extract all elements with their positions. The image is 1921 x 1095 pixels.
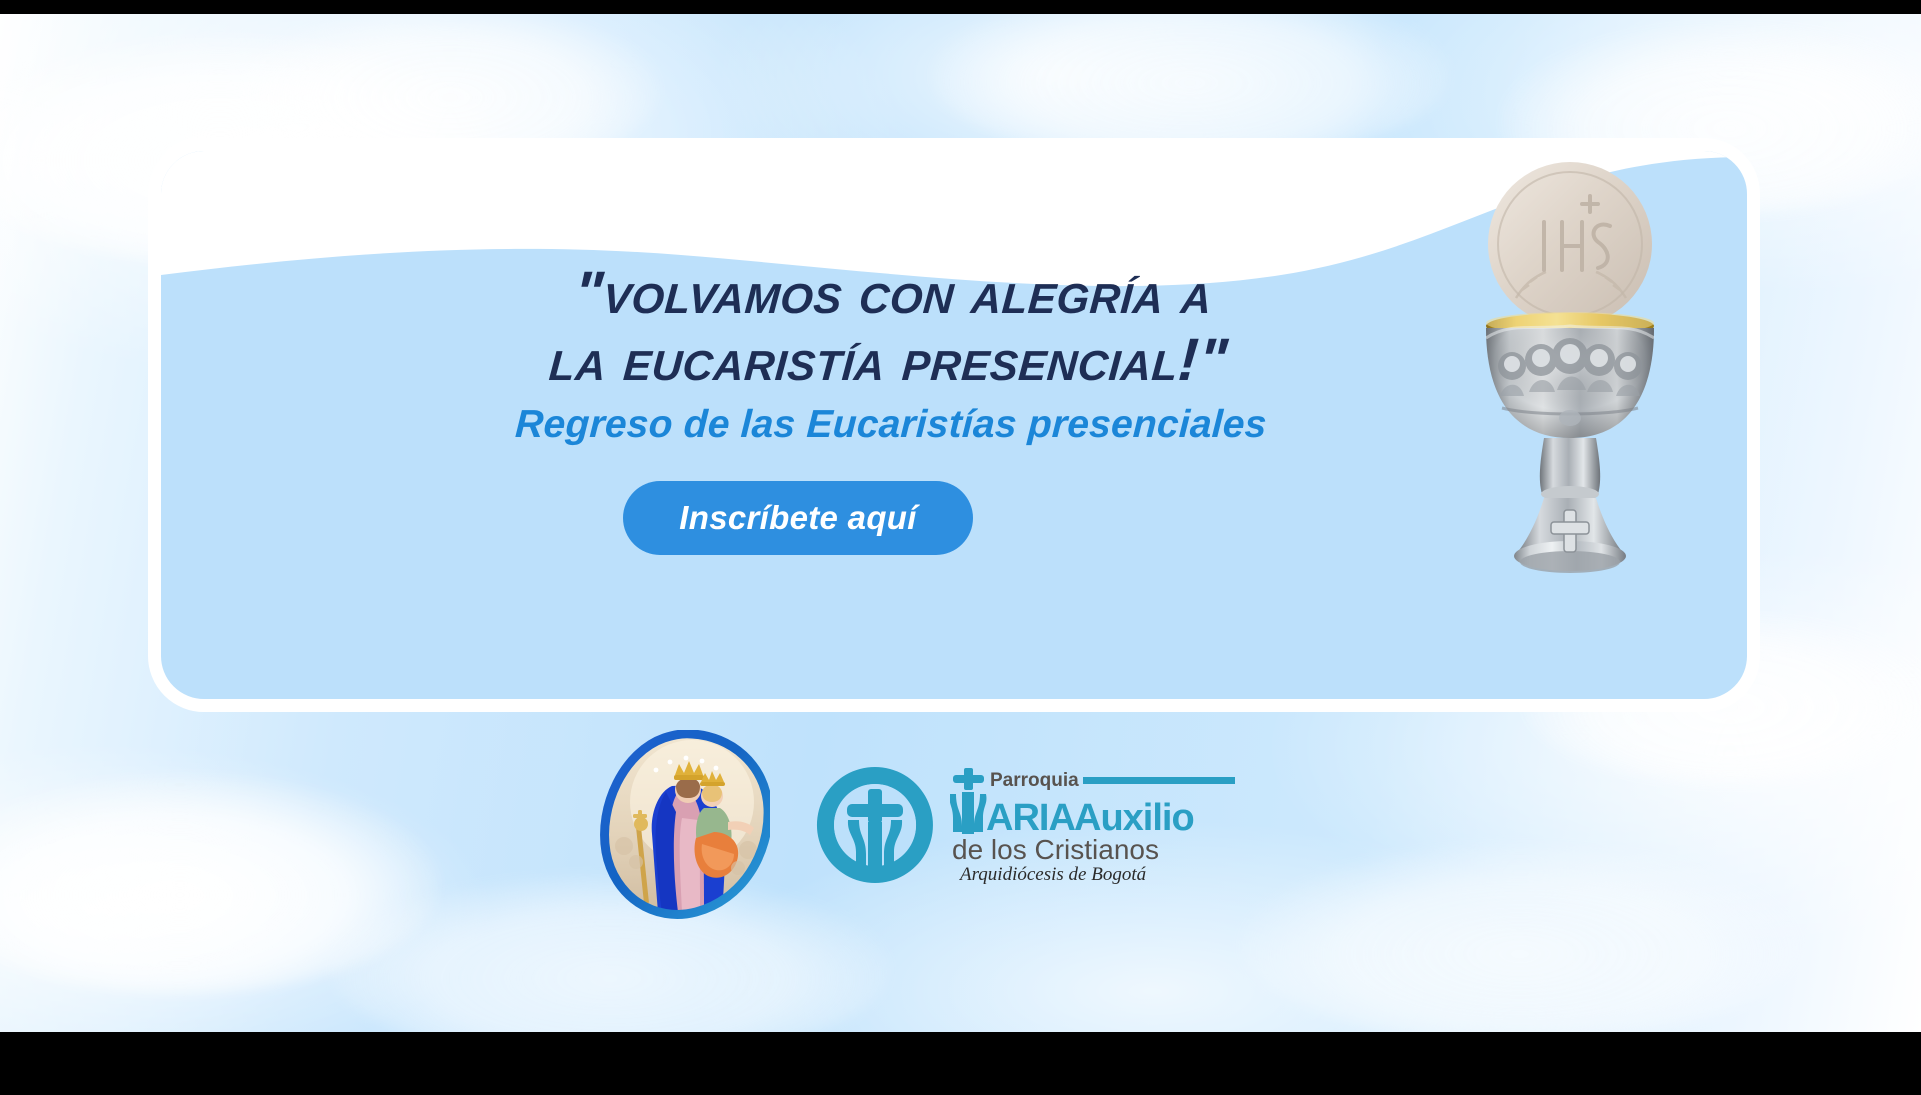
communion-host (1488, 162, 1652, 326)
page-subtitle: Regreso de las Eucaristías presenciales (360, 403, 1422, 447)
chalice-bowl (1486, 326, 1654, 438)
wordmark-maria: ARIA (986, 797, 1075, 839)
wordmark-arquidiocesis: Arquidiócesis de Bogotá (958, 864, 1147, 884)
banner-stage: "Volvamos con alegría a la Eucaristía Pr… (0, 0, 1921, 1095)
wordmark-parroquia: Parroquia (990, 770, 1079, 791)
page-title: "Volvamos con alegría a la Eucaristía Pr… (356, 259, 1425, 393)
branding-row: Parroquia ARIA Auxilio de los Cristianos… (600, 730, 1240, 920)
parish-cross-figure-mark-icon (814, 764, 936, 886)
wordmark-de-los-cristianos: de los Cristianos (952, 834, 1159, 865)
wordmark-figure-icon (950, 792, 986, 834)
maria-auxiliadora-image (600, 730, 770, 920)
parish-wordmark: Parroquia ARIA Auxilio de los Cristianos… (950, 766, 1240, 884)
headline-line-1: "Volvamos con alegría a (572, 259, 1214, 326)
cloud-shape (1240, 844, 1800, 1032)
wordmark-auxilio: Auxilio (1074, 797, 1194, 839)
cloud-shape (0, 774, 440, 994)
headline-line-2: la Eucaristía Presencial!" (547, 326, 1230, 393)
wordmark-cross-icon (953, 768, 984, 790)
eucharistic-chalice-with-host-icon (1440, 150, 1700, 580)
parish-logo-lockup: Parroquia ARIA Auxilio de los Cristianos… (814, 764, 1240, 886)
inscribete-aqui-button[interactable]: Inscríbete aquí (623, 481, 973, 555)
